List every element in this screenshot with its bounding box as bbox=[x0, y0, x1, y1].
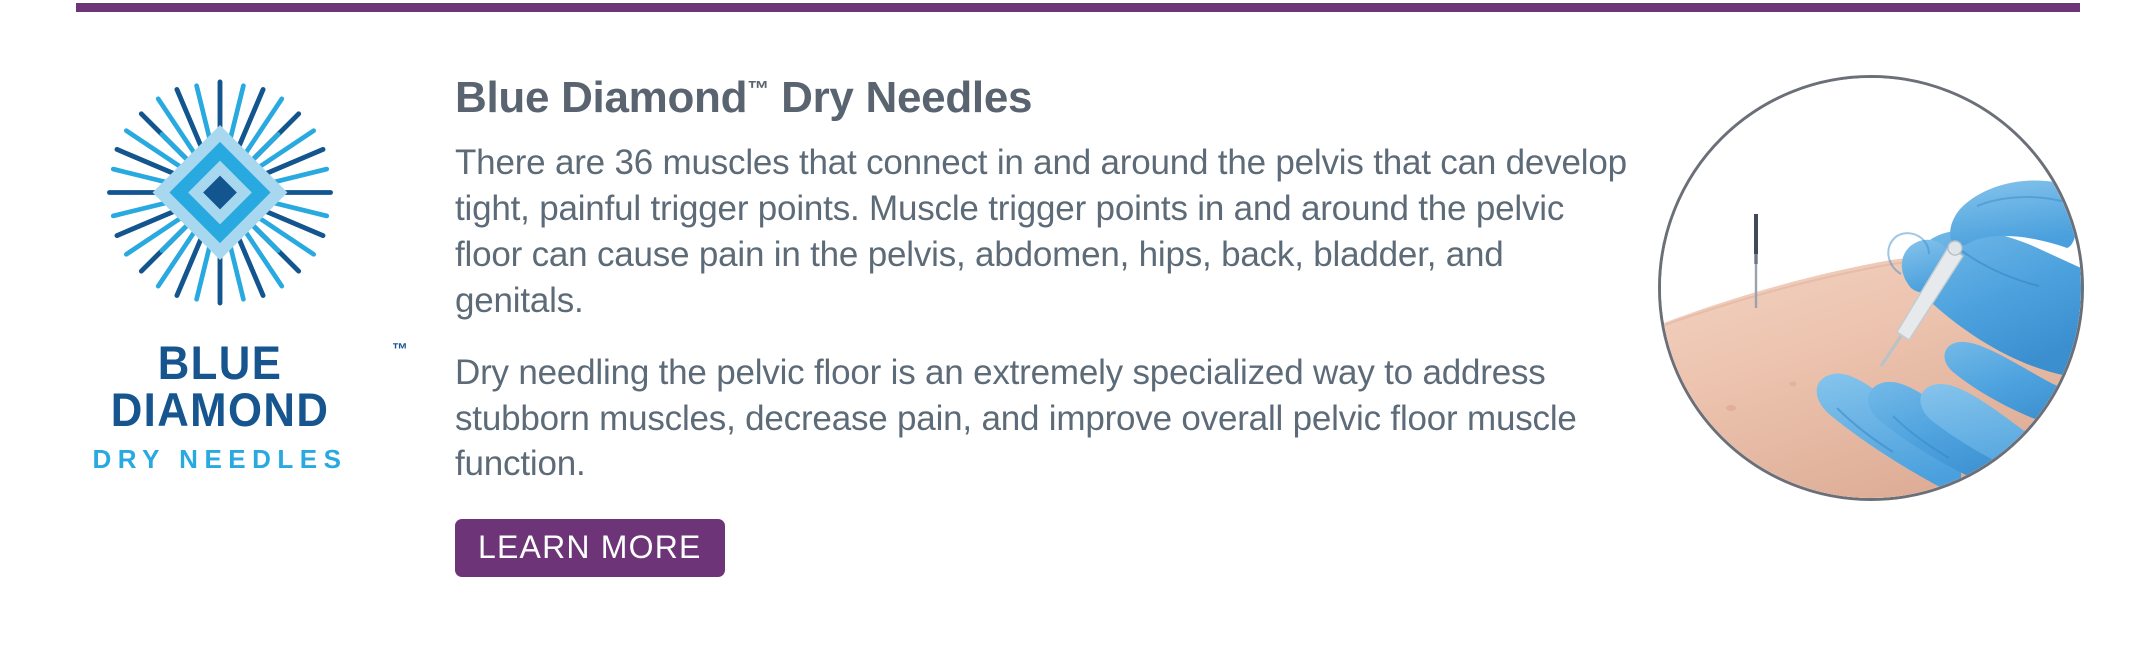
dry-needling-illustration bbox=[1661, 78, 2081, 498]
brand-wordmark: BLUE DIAMOND™ DRY NEEDLES bbox=[40, 339, 400, 472]
blue-diamond-promo-card: BLUE DIAMOND™ DRY NEEDLES Blue Diamond™ … bbox=[0, 0, 2154, 655]
wordmark-trademark-symbol: ™ bbox=[392, 341, 408, 358]
top-accent-rule bbox=[76, 3, 2080, 12]
page-title: Blue Diamond™ Dry Needles bbox=[455, 74, 1630, 122]
dry-needling-photo bbox=[1658, 75, 2084, 501]
body-paragraph-two: Dry needling the pelvic floor is an extr… bbox=[455, 350, 1630, 488]
promo-text-block: Blue Diamond™ Dry Needles There are 36 m… bbox=[455, 74, 1630, 577]
body-paragraph-one: There are 36 muscles that connect in and… bbox=[455, 140, 1630, 323]
brand-logo-block: BLUE DIAMOND™ DRY NEEDLES bbox=[40, 52, 400, 472]
cta-container: LEARN MORE bbox=[455, 519, 1630, 577]
wordmark-secondary: DRY NEEDLES bbox=[40, 446, 400, 472]
headline-trademark-symbol: ™ bbox=[747, 76, 769, 101]
blue-diamond-starburst-icon bbox=[70, 52, 370, 333]
wordmark-primary-text: BLUE DIAMOND bbox=[111, 336, 330, 436]
wordmark-primary: BLUE DIAMOND™ bbox=[53, 339, 388, 433]
learn-more-button[interactable]: LEARN MORE bbox=[455, 519, 725, 577]
headline-part-two: Dry Needles bbox=[769, 73, 1032, 122]
headline-part-one: Blue Diamond bbox=[455, 73, 747, 122]
